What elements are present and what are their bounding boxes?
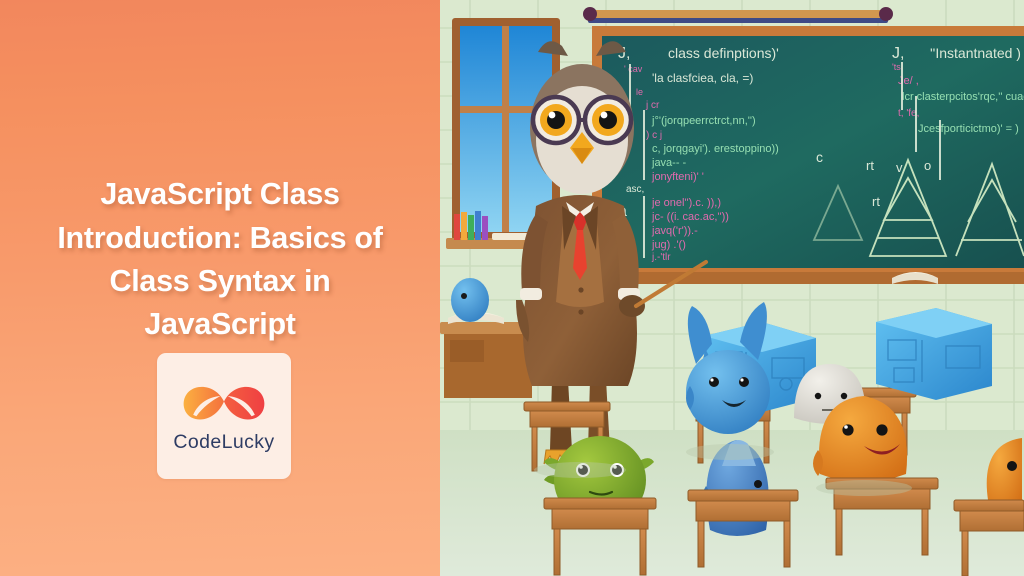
svg-text:asc,: asc,	[626, 184, 644, 195]
svg-text:J,: J,	[892, 45, 904, 62]
classroom-scene: J, class definptions)' ' cav 'la clasfci…	[440, 0, 1024, 576]
codelucky-wordmark: CodeLucky	[173, 431, 274, 454]
title-panel: JavaScript Class Introduction: Basics of…	[0, 0, 440, 576]
classroom-illustration: J, class definptions)' ' cav 'la clasfci…	[440, 0, 1024, 576]
svg-text:c, jorqgayi'). erestoppino)): c, jorqgayi'). erestoppino))	[652, 143, 779, 155]
title-line-1: JavaScript Class	[100, 177, 339, 211]
svg-text:'ts: 'ts	[892, 62, 901, 72]
blue-small-blob-student	[451, 278, 489, 322]
article-banner: JavaScript Class Introduction: Basics of…	[0, 0, 1024, 576]
svg-text:le: le	[636, 87, 643, 97]
svg-text:lcr clasterpcitos'rqc,'' cuags: lcr clasterpcitos'rqc,'' cuagst	[902, 91, 1024, 103]
svg-text:jug) .'(): jug) .'()	[651, 239, 686, 251]
title-line-4: JavaScript	[144, 307, 295, 341]
svg-text:jonyfteni)' ': jonyfteni)' '	[651, 171, 704, 183]
title-line-3: Class Syntax in	[110, 264, 331, 298]
svg-text:v: v	[896, 160, 903, 175]
svg-text:) c j: ) c j	[646, 130, 662, 141]
title-line-2: Introduction: Basics of	[57, 221, 382, 255]
blue-circuit-cube-student-2	[876, 308, 992, 400]
svg-text:j cr: j cr	[645, 100, 660, 111]
svg-text:je onel'').c. )),): je onel'').c. )),)	[651, 197, 721, 209]
svg-text:o: o	[924, 158, 931, 173]
svg-text:j°'(jorqpeerrctrct,nn,''): j°'(jorqpeerrctrct,nn,'')	[651, 115, 756, 127]
svg-text:rt: rt	[872, 194, 880, 209]
codelucky-logo-card[interactable]: CodeLucky	[157, 353, 291, 479]
svg-text:javq('r')).-: javq('r')).-	[651, 225, 698, 237]
svg-text:class definptions)': class definptions)'	[668, 45, 779, 61]
svg-text:c: c	[816, 149, 823, 165]
svg-text:' cav: ' cav	[624, 64, 643, 74]
svg-text:jc- ((i. cac.ac,'')): jc- ((i. cac.ac,''))	[651, 211, 729, 223]
page-title: JavaScript Class Introduction: Basics of…	[22, 173, 418, 346]
svg-text:java-- -: java-- -	[651, 157, 687, 169]
infinity-leaf-mark-icon	[178, 378, 270, 425]
svg-text:''Instantnated ): ''Instantnated )	[930, 45, 1021, 61]
svg-text:j.-'tlr: j.-'tlr	[651, 252, 671, 263]
svg-text:Jcesfporticictmo)' = ): Jcesfporticictmo)' = )	[918, 123, 1019, 135]
chalkboard: J, class definptions)' ' cav 'la clasfci…	[592, 26, 1024, 284]
svg-text:rt: rt	[866, 158, 874, 173]
svg-text:'la clasfciea, cla, =): 'la clasfciea, cla, =)	[652, 71, 753, 85]
